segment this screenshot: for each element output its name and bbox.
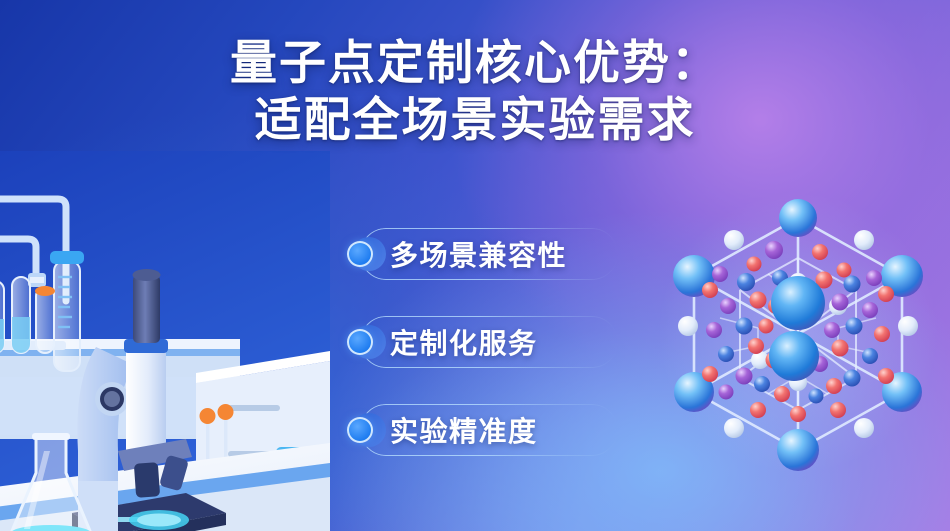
dot-icon <box>347 417 373 443</box>
dot-icon <box>347 329 373 355</box>
feature-item-1[interactable]: 多场景兼容性 <box>338 228 638 280</box>
feature-item-3[interactable]: 实验精准度 <box>338 404 638 456</box>
molecular-lattice-illustration <box>648 178 948 498</box>
dot-icon <box>347 241 373 267</box>
graduated-cylinder <box>50 251 84 371</box>
microscope-lab-illustration <box>0 151 330 531</box>
feature-list: 多场景兼容性 定制化服务 实验精准度 <box>338 228 638 456</box>
title-line-2: 适配全场景实验需求 <box>0 91 950 148</box>
feature-label-2: 定制化服务 <box>390 322 538 362</box>
page-title: 量子点定制核心优势： 适配全场景实验需求 <box>0 34 950 149</box>
feature-label-3: 实验精准度 <box>390 410 538 450</box>
poster-canvas: 量子点定制核心优势： 适配全场景实验需求 多场景兼容性 定制化服务 实验精准度 <box>0 0 950 531</box>
title-line-1: 量子点定制核心优势： <box>0 34 950 91</box>
feature-item-2[interactable]: 定制化服务 <box>338 316 638 368</box>
feature-label-1: 多场景兼容性 <box>390 234 567 274</box>
